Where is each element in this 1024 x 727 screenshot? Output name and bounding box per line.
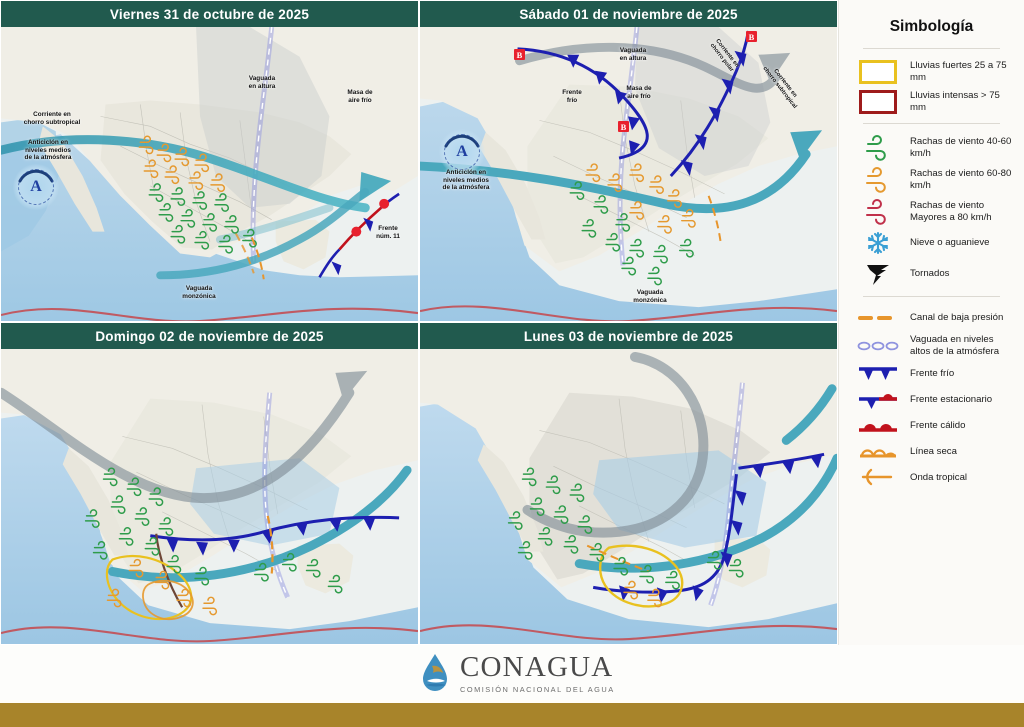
upper-level-trough-icon xyxy=(855,339,901,353)
weather-forecast-page: Viernes 31 de octubre de 2025 xyxy=(0,0,1024,727)
legend-group-systems: Canal de baja presión Vaguada en niveles… xyxy=(849,305,1014,490)
legend-label: Frente cálido xyxy=(910,420,965,432)
map-graphic-lunes xyxy=(420,349,837,644)
map-graphic-viernes xyxy=(1,27,418,321)
rain-strong-swatch-icon xyxy=(855,60,901,84)
legend-item-lluvias-fuertes[interactable]: Lluvias fuertes 25 a 75 mm xyxy=(849,57,1014,87)
legend-divider xyxy=(863,48,1000,49)
conagua-brand: CONAGUA COMISIÓN NACIONAL DEL AGUA xyxy=(421,652,615,694)
forecast-panel-lunes[interactable]: Lunes 03 de noviembre de 2025 xyxy=(419,322,838,645)
legend-divider xyxy=(863,296,1000,297)
legend-item-lluvias-intensas[interactable]: Lluvias intensas > 75 mm xyxy=(849,87,1014,117)
legend-item-rachas-mayores-80[interactable]: Rachas de viento Mayores a 80 km/h xyxy=(849,196,1014,228)
map-canvas-lunes[interactable] xyxy=(420,349,837,644)
wind-gust-icon xyxy=(855,135,901,161)
legend-label: Rachas de viento Mayores a 80 km/h xyxy=(910,200,1014,223)
legend-item-frente-calido[interactable]: Frente cálido xyxy=(849,412,1014,438)
panel-title-domingo: Domingo 02 de noviembre de 2025 xyxy=(1,323,418,349)
panel-title-lunes: Lunes 03 de noviembre de 2025 xyxy=(420,323,837,349)
legend-item-frente-frio[interactable]: Frente frío xyxy=(849,360,1014,386)
legend-item-tornados[interactable]: Tornados xyxy=(849,258,1014,290)
panel-title-viernes: Viernes 31 de octubre de 2025 xyxy=(1,1,418,27)
panel-title-sabado: Sábado 01 de noviembre de 2025 xyxy=(420,1,837,27)
legend-item-canal-baja-presion[interactable]: Canal de baja presión xyxy=(849,305,1014,331)
legend-label: Vaguada en niveles altos de la atmósfera xyxy=(910,334,1014,357)
legend-item-vaguada-niveles-altos[interactable]: Vaguada en niveles altos de la atmósfera xyxy=(849,331,1014,360)
legend-item-rachas-40-60[interactable]: Rachas de viento 40-60 km/h xyxy=(849,132,1014,164)
map-canvas-viernes[interactable] xyxy=(1,27,418,321)
legend-title: Simbología xyxy=(849,18,1014,36)
tropical-wave-icon xyxy=(855,467,901,487)
wind-gust-icon xyxy=(855,167,901,193)
warm-front-icon xyxy=(855,417,901,433)
legend-panel: Simbología Lluvias fuertes 25 a 75 mm Ll… xyxy=(838,0,1024,700)
anticyclone-marker-sabado: A xyxy=(439,129,485,175)
legend-label: Canal de baja presión xyxy=(910,312,1003,324)
organization-subtitle: COMISIÓN NACIONAL DEL AGUA xyxy=(460,685,615,694)
legend-divider xyxy=(863,123,1000,124)
low-pressure-marker: B xyxy=(746,31,757,42)
legend-item-nieve[interactable]: Nieve o aguanieve xyxy=(849,228,1014,258)
wind-gust-icon xyxy=(855,199,901,225)
cold-front-icon xyxy=(855,365,901,381)
anticyclone-letter: A xyxy=(456,143,468,161)
forecast-panel-sabado[interactable]: Sábado 01 de noviembre de 2025 xyxy=(419,0,838,322)
legend-item-frente-estacionario[interactable]: Frente estacionario xyxy=(849,386,1014,412)
legend-item-rachas-60-80[interactable]: Rachas de viento 60-80 km/h xyxy=(849,164,1014,196)
low-pressure-marker: B xyxy=(514,49,525,60)
dry-line-icon xyxy=(855,443,901,459)
legend-item-linea-seca[interactable]: Línea seca xyxy=(849,438,1014,464)
snowflake-icon xyxy=(855,231,901,255)
legend-label: Onda tropical xyxy=(910,472,967,484)
legend-label: Frente frío xyxy=(910,368,954,380)
map-graphic-domingo xyxy=(1,349,418,644)
rain-intense-swatch-icon xyxy=(855,90,901,114)
low-pressure-marker: B xyxy=(618,121,629,132)
conagua-wordmark: CONAGUA COMISIÓN NACIONAL DEL AGUA xyxy=(460,653,615,694)
stationary-front-icon xyxy=(855,389,901,409)
map-canvas-domingo[interactable] xyxy=(1,349,418,644)
low-pressure-channel-icon xyxy=(855,312,901,324)
legend-label: Lluvias fuertes 25 a 75 mm xyxy=(910,60,1014,83)
legend-item-onda-tropical[interactable]: Onda tropical xyxy=(849,464,1014,490)
legend-label: Lluvias intensas > 75 mm xyxy=(910,90,1014,113)
legend-label: Línea seca xyxy=(910,446,957,458)
anticyclone-marker-viernes: A xyxy=(13,164,59,210)
bottom-accent-bar xyxy=(0,703,1024,727)
forecast-map-grid: Viernes 31 de octubre de 2025 xyxy=(0,0,838,645)
legend-label: Tornados xyxy=(910,268,949,280)
forecast-panel-domingo[interactable]: Domingo 02 de noviembre de 2025 xyxy=(0,322,419,645)
legend-label: Nieve o aguanieve xyxy=(910,237,989,249)
forecast-panel-viernes[interactable]: Viernes 31 de octubre de 2025 xyxy=(0,0,419,322)
legend-group-hazards: Rachas de viento 40-60 km/h Rachas de vi… xyxy=(849,132,1014,290)
conagua-logo-icon xyxy=(421,652,451,694)
legend-label: Rachas de viento 60-80 km/h xyxy=(910,168,1014,191)
tornado-icon xyxy=(855,261,901,287)
legend-label: Frente estacionario xyxy=(910,394,992,406)
organization-name: CONAGUA xyxy=(460,653,615,682)
legend-label: Rachas de viento 40-60 km/h xyxy=(910,136,1014,159)
legend-group-rain: Lluvias fuertes 25 a 75 mm Lluvias inten… xyxy=(849,57,1014,117)
anticyclone-letter: A xyxy=(30,178,42,196)
